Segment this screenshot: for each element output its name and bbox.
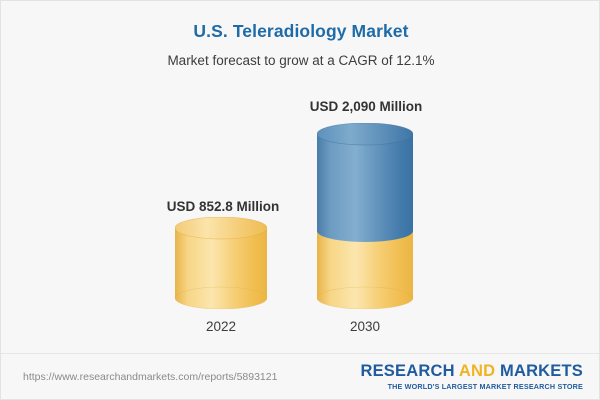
data-label-2030: USD 2,090 Million [266, 99, 466, 114]
brand-tagline: THE WORLD'S LARGEST MARKET RESEARCH STOR… [360, 383, 583, 390]
brand-name-part1: RESEARCH [360, 362, 458, 380]
bar-2022[interactable] [175, 217, 267, 309]
x-axis-label-2030: 2030 [265, 319, 465, 334]
brand-name-and: AND [459, 362, 495, 380]
data-label-2022: USD 852.8 Million [123, 199, 323, 214]
research-and-markets-logo[interactable]: RESEARCH AND MARKETS THE WORLD'S LARGEST… [360, 363, 583, 390]
chart-card: U.S. Teleradiology Market Market forecas… [0, 0, 600, 400]
source-url[interactable]: https://www.researchandmarkets.com/repor… [23, 371, 277, 383]
cylinder-2022-graphic [175, 217, 267, 309]
cylinder-2030-graphic [317, 123, 413, 309]
footer: https://www.researchandmarkets.com/repor… [1, 353, 600, 400]
brand-name: RESEARCH AND MARKETS [360, 363, 583, 380]
brand-name-part2: MARKETS [495, 362, 583, 380]
chart-plot-area: USD 852.8 Million [1, 1, 600, 353]
bar-2030[interactable] [317, 123, 413, 309]
